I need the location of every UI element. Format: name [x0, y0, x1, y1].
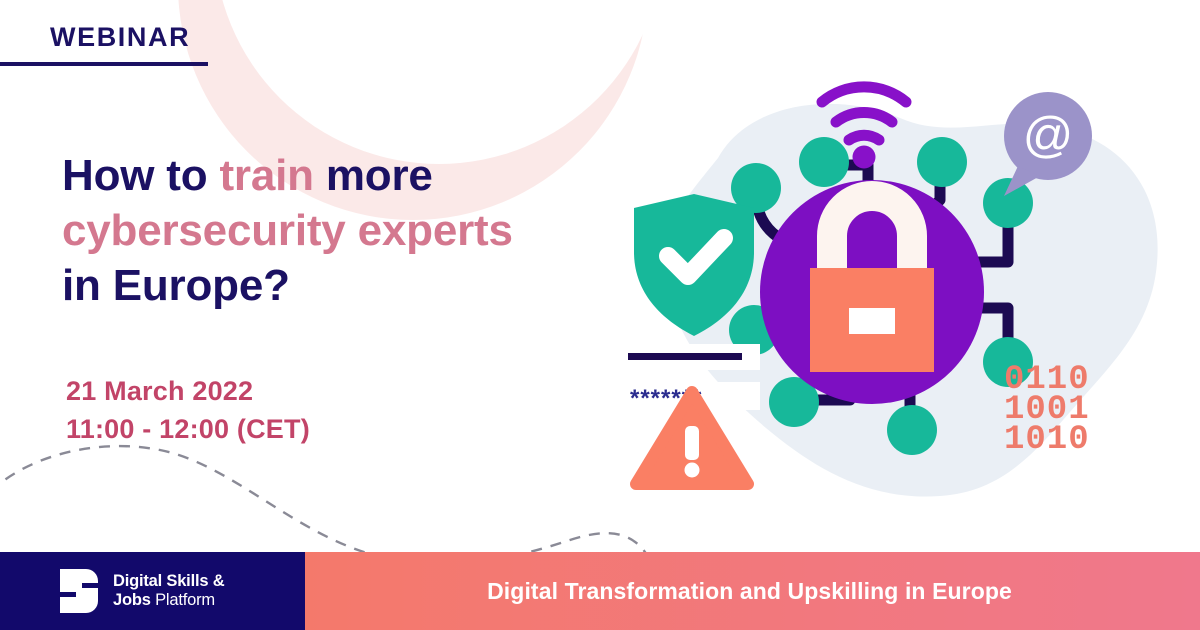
left-content-column: WEBINAR How to train more cybersecurity …	[0, 0, 620, 552]
brand-line-2-rest: Platform	[151, 591, 215, 609]
footer-tagline: Digital Transformation and Upskilling in…	[487, 578, 1018, 605]
svg-text:@: @	[1023, 107, 1074, 163]
headline-part-5: in Europe?	[62, 261, 290, 310]
binary-digits: 0110 1001 1010	[1004, 361, 1090, 459]
ds-monogram-icon	[58, 567, 100, 615]
footer-bar: Digital Skills & Jobs Platform Digital T…	[0, 552, 1200, 630]
brand-line-2: Jobs Platform	[113, 591, 224, 610]
eyebrow-label: WEBINAR	[0, 22, 215, 53]
binary-row-2: 1010	[1004, 421, 1090, 459]
eyebrow-underline	[0, 62, 208, 66]
brand-line-2-bold: Jobs	[113, 591, 151, 609]
node-top-right	[917, 137, 967, 187]
node-right-upper	[983, 178, 1033, 228]
headline-part-1: How to	[62, 151, 219, 200]
brand-line-1: Digital Skills &	[113, 572, 224, 591]
schedule-block: 21 March 2022 11:00 - 12:00 (CET)	[66, 372, 310, 448]
footer-tagline-block: Digital Transformation and Upskilling in…	[305, 552, 1200, 630]
padlock-keyhole	[849, 308, 895, 334]
brand-wordmark: Digital Skills & Jobs Platform	[113, 572, 224, 610]
footer-brand-block[interactable]: Digital Skills & Jobs Platform	[0, 552, 305, 630]
webinar-promo-canvas: WEBINAR How to train more cybersecurity …	[0, 0, 1200, 630]
headline-part-2-accent: train	[219, 151, 313, 200]
eyebrow-block: WEBINAR	[0, 22, 215, 66]
cybersecurity-network-illustration: @ ******* 0110 1001 1010	[600, 40, 1200, 530]
node-bottom-right	[887, 405, 937, 455]
schedule-time: 11:00 - 12:00 (CET)	[66, 410, 310, 448]
headline-part-3: more	[314, 151, 433, 200]
headline-part-4-accent: cybersecurity experts	[62, 206, 513, 255]
page-title: How to train more cybersecurity experts …	[62, 148, 632, 313]
username-field-value-bar	[628, 353, 742, 360]
node-top-middle	[799, 137, 849, 187]
schedule-date: 21 March 2022	[66, 372, 310, 410]
